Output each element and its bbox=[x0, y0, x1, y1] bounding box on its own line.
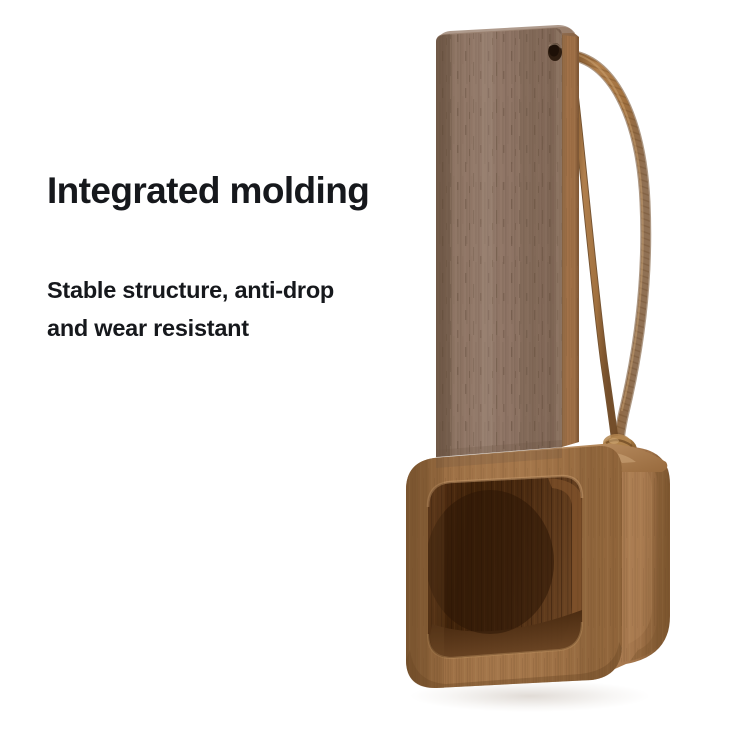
strap-hole bbox=[548, 43, 562, 61]
scoop-cavity bbox=[422, 472, 588, 664]
scoop-head bbox=[400, 440, 680, 695]
product-feature-slide: Integrated molding Stable structure, ant… bbox=[0, 0, 750, 750]
scoop-handle bbox=[430, 24, 584, 464]
wooden-scoop-illustration bbox=[370, 10, 750, 740]
product-image bbox=[370, 10, 750, 740]
